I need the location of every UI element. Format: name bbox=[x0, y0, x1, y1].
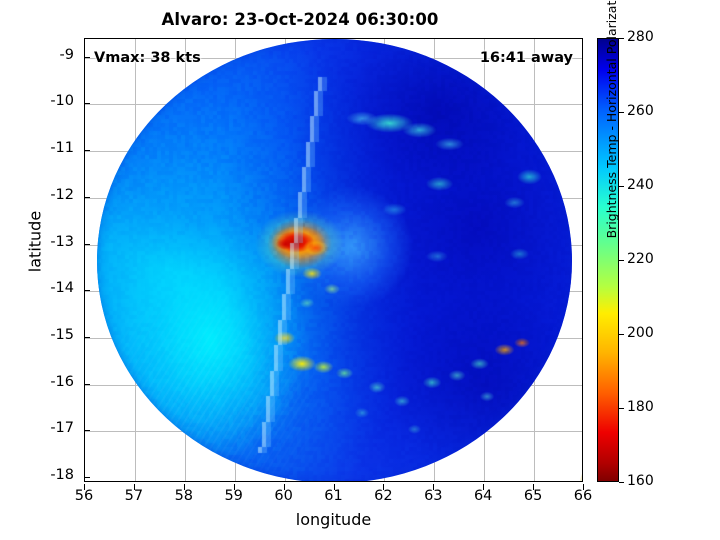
y-tick bbox=[84, 244, 90, 245]
x-tick-label: 62 bbox=[363, 488, 403, 504]
colorbar-tick-label: 180 bbox=[627, 399, 654, 415]
y-tick bbox=[84, 430, 90, 431]
x-tick-label: 63 bbox=[413, 488, 453, 504]
y-tick-label: -17 bbox=[34, 420, 74, 436]
vmax-label: Vmax: 38 kts bbox=[94, 50, 201, 66]
x-tick-label: 66 bbox=[563, 488, 603, 504]
colorbar-tick-label: 200 bbox=[627, 325, 654, 341]
colorbar-tick-label: 220 bbox=[627, 251, 654, 267]
y-tick bbox=[84, 477, 90, 478]
y-tick bbox=[84, 197, 90, 198]
colorbar-tick bbox=[619, 112, 624, 113]
swath-rim bbox=[97, 39, 571, 482]
x-tick-label: 60 bbox=[264, 488, 304, 504]
colorbar-tick bbox=[619, 334, 624, 335]
y-tick bbox=[84, 150, 90, 151]
x-tick-label: 59 bbox=[214, 488, 254, 504]
colorbar-tick-label: 260 bbox=[627, 103, 654, 119]
x-tick-label: 58 bbox=[164, 488, 204, 504]
colorbar-tick-label: 160 bbox=[627, 473, 654, 489]
y-tick-label: -10 bbox=[34, 93, 74, 109]
y-tick-label: -15 bbox=[34, 327, 74, 343]
colorbar-title: Brightness Temp - Horizontal Polarizatio… bbox=[604, 0, 619, 260]
y-axis-title: latitude bbox=[26, 182, 45, 302]
colorbar-tick bbox=[619, 408, 624, 409]
plot-area: Vmax: 38 kts 16:41 away bbox=[84, 38, 583, 482]
y-tick bbox=[84, 384, 90, 385]
x-tick-label: 57 bbox=[114, 488, 154, 504]
colorbar-tick bbox=[619, 482, 624, 483]
page-title: Alvaro: 23-Oct-2024 06:30:00 bbox=[0, 10, 600, 29]
cimss-logo: CIMSS bbox=[557, 451, 583, 482]
y-tick-label: -9 bbox=[34, 47, 74, 63]
x-tick-label: 61 bbox=[314, 488, 354, 504]
colorbar-tick-label: 240 bbox=[627, 177, 654, 193]
x-tick-label: 64 bbox=[463, 488, 503, 504]
x-tick-label: 56 bbox=[64, 488, 104, 504]
y-tick bbox=[84, 103, 90, 104]
x-tick-label: 65 bbox=[513, 488, 553, 504]
y-tick bbox=[84, 290, 90, 291]
y-tick bbox=[84, 337, 90, 338]
time-away-label: 16:41 away bbox=[480, 50, 573, 66]
colorbar-tick bbox=[619, 38, 624, 39]
x-axis-title: longitude bbox=[84, 510, 583, 529]
colorbar-tick-label: 280 bbox=[627, 29, 654, 45]
colorbar-tick bbox=[619, 186, 624, 187]
y-tick-label: -18 bbox=[34, 467, 74, 483]
colorbar-tick bbox=[619, 260, 624, 261]
y-tick bbox=[84, 57, 90, 58]
y-tick-label: -11 bbox=[34, 140, 74, 156]
figure-canvas: Alvaro: 23-Oct-2024 06:30:00 Vmax: 38 kt… bbox=[0, 0, 720, 540]
microwave-swath-image bbox=[97, 39, 571, 482]
y-tick-label: -16 bbox=[34, 374, 74, 390]
